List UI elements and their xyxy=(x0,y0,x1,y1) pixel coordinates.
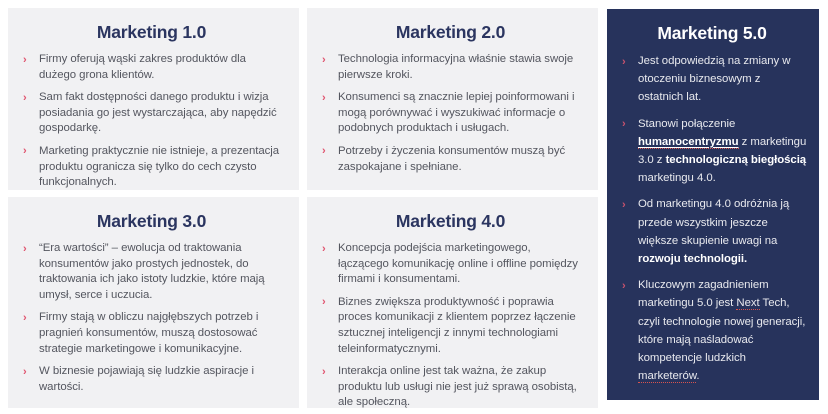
list-item: › Firmy oferują wąski zakres produktów d… xyxy=(18,52,285,83)
list-item-text: Potrzeby i życzenia konsumentów muszą by… xyxy=(338,145,565,173)
list-item-text: Kluczowym zagadnieniem marketingu 5.0 je… xyxy=(638,279,805,383)
bullet-list: › “Era wartości” – ewolucja od traktowan… xyxy=(18,241,285,395)
card-title: Marketing 1.0 xyxy=(18,22,285,43)
list-item-text: W biznesie pojawiają się ludzkie aspirac… xyxy=(39,365,254,393)
chevron-right-icon: › xyxy=(622,277,626,295)
chevron-right-icon: › xyxy=(23,311,27,327)
chevron-right-icon: › xyxy=(23,365,27,381)
text-segment: Stanowi połączenie xyxy=(638,118,735,130)
list-item: › Biznes zwiększa produktywność i popraw… xyxy=(317,295,584,357)
list-item-text: Konsumenci są znacznie lepiej poinformow… xyxy=(338,91,574,134)
list-item-text: Marketing praktycznie nie istnieje, a pr… xyxy=(39,145,279,188)
list-item: › Sam fakt dostępności danego produktu i… xyxy=(18,90,285,137)
chevron-right-icon: › xyxy=(322,242,326,258)
list-item-text: Firmy oferują wąski zakres produktów dla… xyxy=(39,53,246,81)
list-item: › Potrzeby i życzenia konsumentów muszą … xyxy=(317,144,584,175)
list-item-text: Biznes zwiększa produktywność i poprawia… xyxy=(338,296,576,355)
emphasis-text: technologiczną biegłością xyxy=(666,154,807,166)
spellcheck-underlined-text: marketerów xyxy=(638,370,696,383)
chevron-right-icon: › xyxy=(322,144,326,160)
card-title: Marketing 4.0 xyxy=(317,211,584,232)
text-segment: Jest odpowiedzią na zmiany w otoczeniu b… xyxy=(638,55,790,103)
card-title: Marketing 3.0 xyxy=(18,211,285,232)
text-segment-bold: technologiczną biegłością xyxy=(666,154,807,166)
chevron-right-icon: › xyxy=(322,295,326,311)
chevron-right-icon: › xyxy=(622,53,626,71)
text-segment: marketingu 4.0. xyxy=(638,172,716,184)
list-item: › Firmy stają w obliczu najgłębszych pot… xyxy=(18,310,285,357)
card-marketing-2: Marketing 2.0 › Technologia informacyjna… xyxy=(307,8,598,190)
card-marketing-4: Marketing 4.0 › Koncepcja podejścia mark… xyxy=(307,197,598,408)
list-item-text: Stanowi połączenie humanocentryzmu z mar… xyxy=(638,118,806,185)
bullet-list: › Technologia informacyjna właśnie stawi… xyxy=(317,52,584,175)
list-item: ›Stanowi połączenie humanocentryzmu z ma… xyxy=(617,115,807,188)
bullet-list: › Koncepcja podejścia marketingowego, łą… xyxy=(317,241,584,408)
list-item: › Koncepcja podejścia marketingowego, łą… xyxy=(317,241,584,288)
bullet-list: › Firmy oferują wąski zakres produktów d… xyxy=(18,52,285,190)
list-item-text: Od marketingu 4.0 odróżnia ją przede wsz… xyxy=(638,198,789,265)
list-item: › Marketing praktycznie nie istnieje, a … xyxy=(18,144,285,190)
chevron-right-icon: › xyxy=(322,53,326,69)
list-item: ›Od marketingu 4.0 odróżnia ją przede ws… xyxy=(617,195,807,268)
chevron-right-icon: › xyxy=(23,53,27,69)
list-item-text: “Era wartości” – ewolucja od traktowania… xyxy=(39,242,265,301)
spellcheck-underlined-text: Next xyxy=(736,297,759,310)
bullet-list: ›Jest odpowiedzią na zmiany w otoczeniu … xyxy=(617,52,807,385)
chevron-right-icon: › xyxy=(23,242,27,258)
list-item-text: Koncepcja podejścia marketingowego, łącz… xyxy=(338,242,578,285)
list-item: ›Kluczowym zagadnieniem marketingu 5.0 j… xyxy=(617,276,807,385)
emphasis-text-underlined: humanocentryzmu xyxy=(638,136,739,149)
chevron-right-icon: › xyxy=(23,144,27,160)
card-marketing-5: Marketing 5.0 ›Jest odpowiedzią na zmian… xyxy=(607,9,819,400)
chevron-right-icon: › xyxy=(622,196,626,214)
emphasis-text: rozwoju technologii. xyxy=(638,253,747,265)
list-item-text: Firmy stają w obliczu najgłębszych potrz… xyxy=(39,311,258,354)
light-cards-grid: Marketing 1.0 › Firmy oferują wąski zakr… xyxy=(8,8,598,408)
list-item: ›Jest odpowiedzią na zmiany w otoczeniu … xyxy=(617,52,807,107)
list-item-text: Sam fakt dostępności danego produktu i w… xyxy=(39,91,277,134)
list-item: › Interakcja online jest tak ważna, że z… xyxy=(317,364,584,408)
list-item: › W biznesie pojawiają się ludzkie aspir… xyxy=(18,364,285,395)
chevron-right-icon: › xyxy=(322,365,326,381)
text-segment-bold: rozwoju technologii. xyxy=(638,253,747,265)
chevron-right-icon: › xyxy=(322,91,326,107)
chevron-right-icon: › xyxy=(622,115,626,133)
text-segment: Od marketingu 4.0 odróżnia ją przede wsz… xyxy=(638,198,789,246)
list-item: › “Era wartości” – ewolucja od traktowan… xyxy=(18,241,285,303)
marketing-evolution-infographic: Marketing 1.0 › Firmy oferują wąski zakr… xyxy=(0,0,828,414)
card-title: Marketing 5.0 xyxy=(617,23,807,44)
list-item-text: Interakcja online jest tak ważna, że zak… xyxy=(338,365,577,408)
list-item-text: Technologia informacyjna właśnie stawia … xyxy=(338,53,573,81)
list-item: › Technologia informacyjna właśnie stawi… xyxy=(317,52,584,83)
card-title: Marketing 2.0 xyxy=(317,22,584,43)
list-item: › Konsumenci są znacznie lepiej poinform… xyxy=(317,90,584,137)
text-segment-bold-underline: humanocentryzmu xyxy=(638,136,739,149)
card-marketing-3: Marketing 3.0 › “Era wartości” – ewolucj… xyxy=(8,197,299,408)
list-item-text: Jest odpowiedzią na zmiany w otoczeniu b… xyxy=(638,55,790,103)
card-marketing-1: Marketing 1.0 › Firmy oferują wąski zakr… xyxy=(8,8,299,190)
chevron-right-icon: › xyxy=(23,91,27,107)
text-segment: . xyxy=(696,370,699,382)
